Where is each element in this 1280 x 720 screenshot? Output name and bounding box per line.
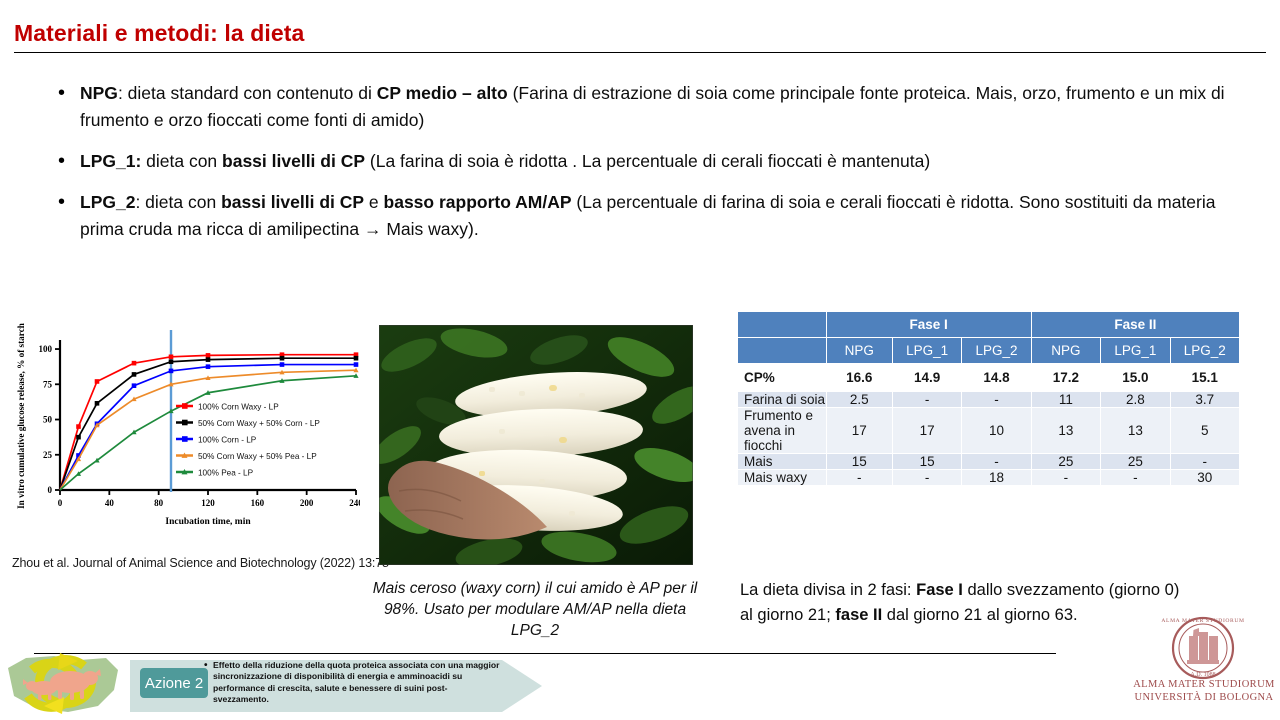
table-column-header: NPG <box>826 338 892 364</box>
table-row: CP%16.614.914.817.215.015.1 <box>738 364 1240 392</box>
bullet-text: NPG: dieta standard con contenuto di CP … <box>80 80 1238 134</box>
unibo-line-2: UNIVERSITÀ DI BOLOGNA <box>1133 691 1275 704</box>
table-row: Frumento e avena in fiocchi17171013135 <box>738 408 1240 454</box>
table-corner-cell <box>738 338 827 364</box>
table-cell: 14.9 <box>892 364 961 392</box>
bullet-list: •NPG: dieta standard con contenuto di CP… <box>58 80 1238 257</box>
diet-composition-table: Fase IFase II NPGLPG_1LPG_2NPGLPG_1LPG_2… <box>737 311 1240 486</box>
unibo-line-1: ALMA MATER STUDIORUM <box>1133 678 1275 691</box>
table-corner-cell <box>738 312 827 338</box>
title-divider <box>14 52 1266 53</box>
table-column-header: NPG <box>1031 338 1100 364</box>
pig-region-logo-icon <box>2 650 126 720</box>
table-row-label: CP% <box>738 364 827 392</box>
table-cell: - <box>826 470 892 486</box>
table-cell: 25 <box>1101 454 1170 470</box>
svg-text:50% Corn Waxy + 50% Pea - LP: 50% Corn Waxy + 50% Pea - LP <box>198 452 317 461</box>
bullet-item: •LPG_2: dieta con bassi livelli di CP e … <box>58 189 1238 243</box>
table-row: Mais1515-2525- <box>738 454 1240 470</box>
svg-text:Incubation time, min: Incubation time, min <box>165 517 251 527</box>
table-cell: - <box>892 470 961 486</box>
svg-text:100: 100 <box>39 344 53 354</box>
bullet-marker-icon: • <box>58 80 80 134</box>
page-title: Materiali e metodi: la dieta <box>14 20 304 47</box>
table-cell: 30 <box>1170 470 1239 486</box>
table-cell: 15.0 <box>1101 364 1170 392</box>
action-bullet-icon: • <box>204 660 208 671</box>
svg-text:50% Corn Waxy + 50% Corn - LP: 50% Corn Waxy + 50% Corn - LP <box>198 419 320 428</box>
table-column-header: LPG_2 <box>962 338 1031 364</box>
svg-text:120: 120 <box>201 498 215 508</box>
table-cell: - <box>1170 454 1239 470</box>
glucose-release-chart: 040801201602002400255075100Incubation ti… <box>8 318 360 540</box>
svg-text:0: 0 <box>48 485 53 495</box>
svg-text:40: 40 <box>105 498 115 508</box>
table-cell: - <box>962 392 1031 408</box>
waxy-corn-photo <box>379 325 693 565</box>
unibo-wordmark: ALMA MATER STUDIORUM UNIVERSITÀ DI BOLOG… <box>1133 678 1275 704</box>
svg-text:160: 160 <box>251 498 265 508</box>
table-cell: 18 <box>962 470 1031 486</box>
action-description-text: Effetto della riduzione della quota prot… <box>213 660 500 704</box>
table-cell: 10 <box>962 408 1031 454</box>
table-row: Mais waxy--18--30 <box>738 470 1240 486</box>
svg-text:75: 75 <box>43 379 53 389</box>
table-cell: 17 <box>892 408 961 454</box>
bullet-item: •NPG: dieta standard con contenuto di CP… <box>58 80 1238 134</box>
table-cell: 11 <box>1031 392 1100 408</box>
table-column-header: LPG_2 <box>1170 338 1239 364</box>
table-cell: 25 <box>1031 454 1100 470</box>
table-header-row: NPGLPG_1LPG_2NPGLPG_1LPG_2 <box>738 338 1240 364</box>
table-cell: 17 <box>826 408 892 454</box>
table-cell: 2.5 <box>826 392 892 408</box>
bullet-marker-icon: • <box>58 148 80 175</box>
azione-2-label: Azione 2 <box>145 675 203 692</box>
svg-text:100% Corn - LP: 100% Corn - LP <box>198 435 257 444</box>
table-cell: 13 <box>1031 408 1100 454</box>
svg-text:200: 200 <box>300 498 314 508</box>
table-row-label: Frumento e avena in fiocchi <box>738 408 827 454</box>
svg-text:100% Pea - LP: 100% Pea - LP <box>198 468 254 477</box>
table-cell: 2.8 <box>1101 392 1170 408</box>
table-cell: 5 <box>1170 408 1239 454</box>
table-cell: 15 <box>826 454 892 470</box>
svg-text:50: 50 <box>43 415 53 425</box>
svg-text:In vitro cumulative glucose re: In vitro cumulative glucose release, % o… <box>16 323 26 509</box>
table-cell: 16.6 <box>826 364 892 392</box>
table-cell: 15.1 <box>1170 364 1239 392</box>
table-row-label: Mais <box>738 454 827 470</box>
table-cell: 17.2 <box>1031 364 1100 392</box>
table-cell: 15 <box>892 454 961 470</box>
table-column-header: LPG_1 <box>1101 338 1170 364</box>
diet-phases-note: La dieta divisa in 2 fasi: Fase I dallo … <box>740 578 1192 628</box>
table-group-header: Fase I <box>826 312 1031 338</box>
table-row: Farina di soia2.5--112.83.7 <box>738 392 1240 408</box>
photo-caption: Mais ceroso (waxy corn) il cui amido è A… <box>368 578 702 641</box>
bullet-text: LPG_2: dieta con bassi livelli di CP e b… <box>80 189 1238 243</box>
table-column-header: LPG_1 <box>892 338 961 364</box>
azione-2-badge: Azione 2 <box>140 668 208 698</box>
table-row-label: Mais waxy <box>738 470 827 486</box>
chart-citation: Zhou et al. Journal of Animal Science an… <box>12 556 389 570</box>
svg-text:25: 25 <box>43 450 53 460</box>
table-cell: - <box>1031 470 1100 486</box>
table-group-header: Fase II <box>1031 312 1239 338</box>
table-cell: - <box>1101 470 1170 486</box>
table-cell: 14.8 <box>962 364 1031 392</box>
table-row-label: Farina di soia <box>738 392 827 408</box>
table-group-header-row: Fase IFase II <box>738 312 1240 338</box>
slide-root: Materiali e metodi: la dieta •NPG: dieta… <box>0 0 1280 720</box>
table-cell: 13 <box>1101 408 1170 454</box>
table-cell: 3.7 <box>1170 392 1239 408</box>
svg-text:80: 80 <box>154 498 164 508</box>
bullet-text: LPG_1: dieta con bassi livelli di CP (La… <box>80 148 1238 175</box>
table-cell: - <box>962 454 1031 470</box>
svg-text:100% Corn Waxy - LP: 100% Corn Waxy - LP <box>198 402 279 411</box>
bullet-marker-icon: • <box>58 189 80 243</box>
svg-text:240: 240 <box>349 498 360 508</box>
svg-text:ALMA MATER STUDIORUM: ALMA MATER STUDIORUM <box>1161 618 1244 624</box>
svg-text:0: 0 <box>58 498 63 508</box>
table-cell: - <box>892 392 961 408</box>
bullet-item: •LPG_1: dieta con bassi livelli di CP (L… <box>58 148 1238 175</box>
action-description: • Effetto della riduzione della quota pr… <box>213 660 503 706</box>
footer-divider <box>34 653 1056 654</box>
